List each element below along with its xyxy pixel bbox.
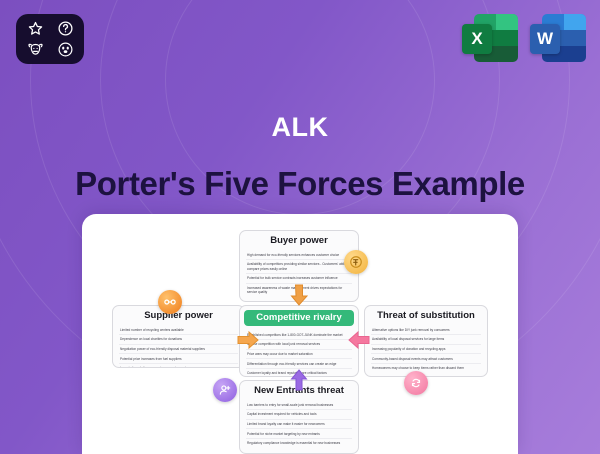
brand-name: ALK xyxy=(0,112,600,143)
list-item: Increasing popularity of donation and re… xyxy=(371,344,481,354)
cow-icon xyxy=(20,39,50,60)
word-letter: W xyxy=(530,24,560,54)
force-box-threat-of-substitution[interactable]: Threat of substitution Alternative optio… xyxy=(364,305,488,377)
list-item: Community-based disposal events may attr… xyxy=(371,353,481,363)
list-item: Low barriers to entry for small-scale ju… xyxy=(246,400,352,409)
list-item: Potential for niche market targeting by … xyxy=(246,428,352,438)
list-item: Availability of competitors providing si… xyxy=(246,259,352,273)
force-item-list: Limited number of recycling centers avai… xyxy=(119,325,238,368)
app-logo[interactable] xyxy=(16,14,84,64)
list-item: Limited brand loyalty can make it easier… xyxy=(246,419,352,429)
force-box-supplier-power[interactable]: Supplier power Limited number of recycli… xyxy=(112,305,245,368)
list-item: Negotiation power of eco-friendly dispos… xyxy=(119,344,238,354)
list-item: Price wars may occur due to market satur… xyxy=(246,349,352,359)
office-app-icons: X W xyxy=(462,12,586,64)
microsoft-word-icon[interactable]: W xyxy=(530,12,586,64)
force-item-list: Alternative options like DIY junk remova… xyxy=(371,325,481,372)
slide-canvas: X W ALK Porter's Five Forces Example Buy… xyxy=(0,0,600,454)
list-item: Impact of regulations on waste processin… xyxy=(119,363,238,368)
arrow-supplier-to-rivalry xyxy=(237,329,259,351)
list-item: Potential for bulk service contracts inc… xyxy=(246,273,352,283)
list-item: Intense competition with local junk remo… xyxy=(246,339,352,349)
badge-substitution-recycle-icon xyxy=(404,371,428,395)
force-title: Competitive rivalry xyxy=(244,310,354,326)
excel-letter: X xyxy=(462,24,492,54)
list-item: Dependence on local charities for donati… xyxy=(119,334,238,344)
arrow-substitution-to-rivalry xyxy=(348,329,370,351)
question-mark-icon xyxy=(50,18,80,39)
porters-five-forces-diagram: Buyer power High demand for eco-friendly… xyxy=(82,214,518,454)
badge-supplier-handshake-icon xyxy=(158,290,182,314)
badge-buyer-coin-icon xyxy=(344,250,368,274)
page-title: Porter's Five Forces Example xyxy=(0,165,600,203)
list-item: Differentiation through eco-friendly ser… xyxy=(246,358,352,368)
list-item: Limited number of recycling centers avai… xyxy=(119,325,238,334)
list-item: Alternative options like DIY junk remova… xyxy=(371,325,481,334)
list-item: High demand for eco-friendly services en… xyxy=(246,250,352,259)
list-item: Regulatory compliance knowledge is essen… xyxy=(246,438,352,448)
star-icon xyxy=(20,18,50,39)
arrow-entrants-to-rivalry xyxy=(288,369,310,391)
diagram-card: Buyer power High demand for eco-friendly… xyxy=(82,214,518,454)
dog-icon xyxy=(50,39,80,60)
force-box-new-entrants-threat[interactable]: New Entrants threat Low barriers to entr… xyxy=(239,380,359,454)
list-item: Capital investment required for vehicles… xyxy=(246,409,352,419)
force-title: Buyer power xyxy=(246,236,352,246)
list-item: Potential price increases from fuel supp… xyxy=(119,353,238,363)
arrow-buyer-to-rivalry xyxy=(288,284,310,306)
microsoft-excel-icon[interactable]: X xyxy=(462,12,518,64)
list-item: Established competitors like 1-800-GOT-J… xyxy=(246,330,352,339)
force-title: Threat of substitution xyxy=(371,311,481,321)
force-item-list: Low barriers to entry for small-scale ju… xyxy=(246,400,352,447)
badge-entrants-add-user-icon xyxy=(213,378,237,402)
list-item: Homeowners may choose to keep items rath… xyxy=(371,363,481,373)
force-title: Supplier power xyxy=(119,311,238,321)
list-item: Availability of local disposal services … xyxy=(371,334,481,344)
